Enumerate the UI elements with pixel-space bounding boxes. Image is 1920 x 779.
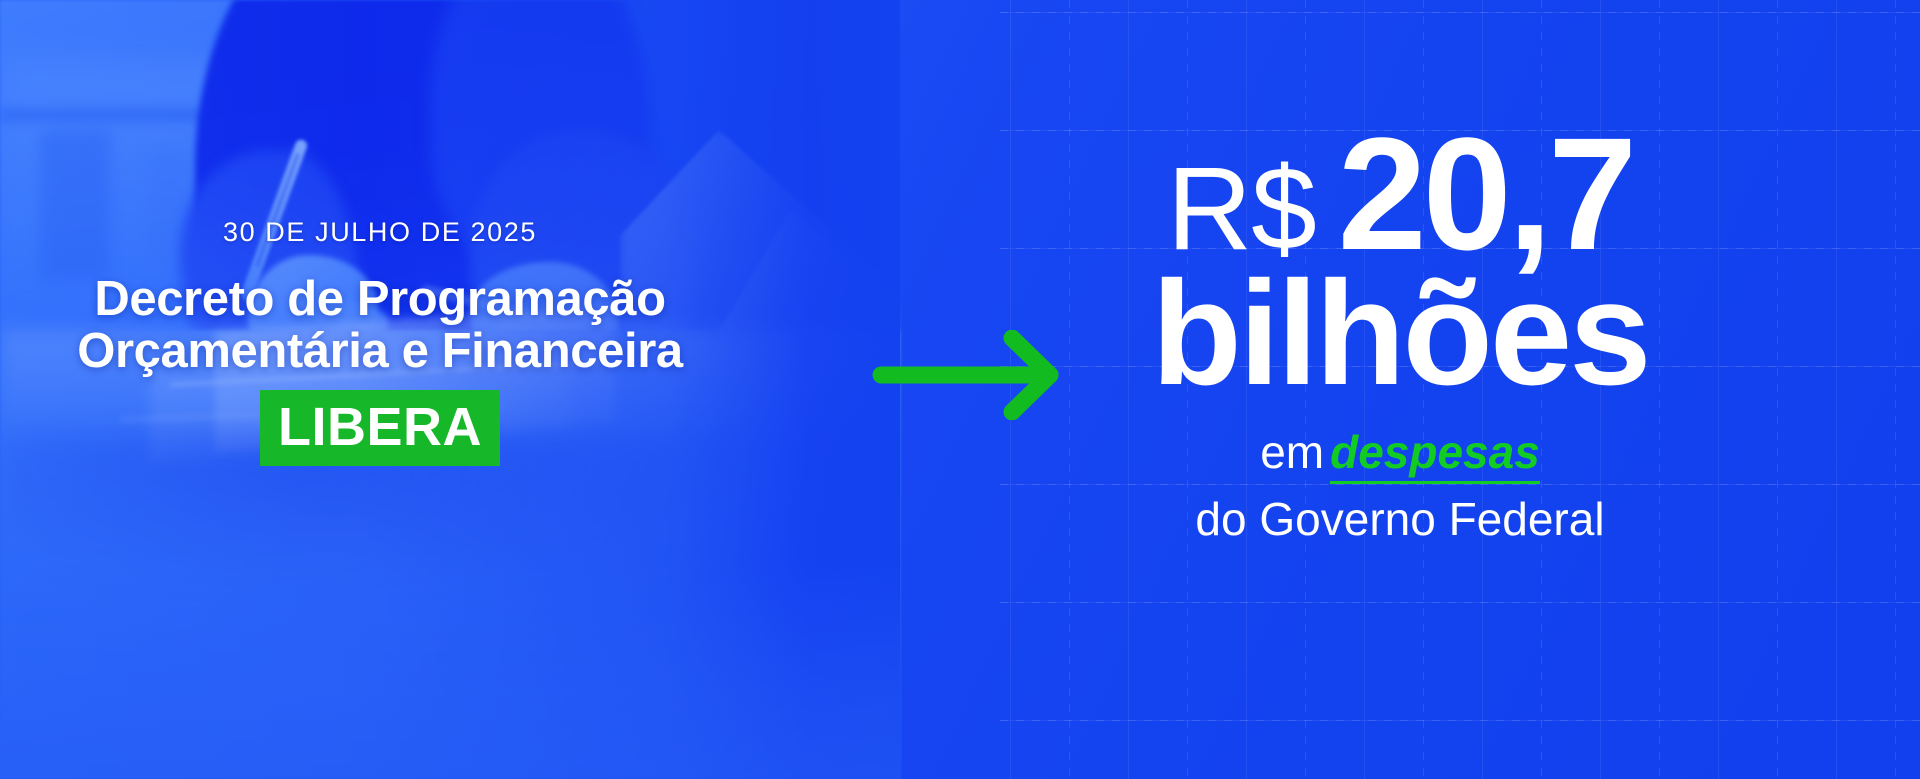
subtitle-line-1: emdespesas — [880, 425, 1920, 479]
left-content-block: 30 DE JULHO DE 2025 Decreto de Programaç… — [0, 218, 760, 466]
page-title: Decreto de Programação Orçamentária e Fi… — [0, 274, 760, 378]
headline-line-1: Decreto de Programação — [0, 274, 760, 326]
subtitle-highlight: despesas — [1330, 426, 1540, 484]
date-label: 30 DE JULHO DE 2025 — [0, 218, 760, 248]
photo-bottom-fade — [0, 560, 900, 779]
headline-line-2: Orçamentária e Financeira — [0, 326, 760, 378]
subtitle-prefix: em — [1260, 426, 1324, 478]
arrow-right-icon — [872, 330, 1072, 420]
amount-value: 20,7 — [1338, 120, 1633, 267]
decree-announcement-banner: 30 DE JULHO DE 2025 Decreto de Programaç… — [0, 0, 1920, 779]
currency-symbol: R$ — [1167, 155, 1316, 264]
status-badge: LIBERA — [260, 390, 500, 466]
amount-row: R$ 20,7 — [880, 120, 1920, 267]
badge-row: LIBERA — [0, 390, 760, 466]
subtitle-line-2: do Governo Federal — [880, 492, 1920, 547]
